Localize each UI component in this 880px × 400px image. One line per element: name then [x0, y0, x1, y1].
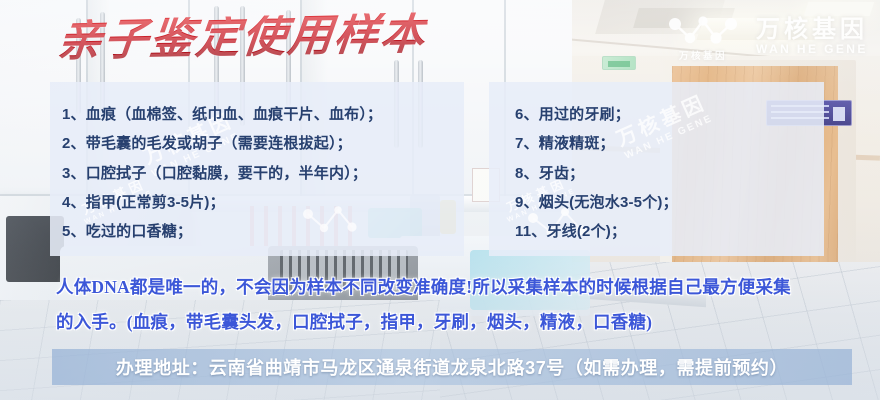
list-item: 6、用过的牙刷； — [515, 100, 824, 129]
sample-list-panel-right: 万核基因 WAN HE GENE 万核基因 WAN HE GENE 6、用过的牙… — [489, 82, 824, 256]
logo-mark-label: 万核基因 — [679, 48, 727, 62]
logo-name-en: WAN HE GENE — [756, 42, 868, 56]
list-item: 11、牙线(2个)； — [515, 217, 824, 246]
sample-list-left: 1、血痕（血棉签、纸巾血、血痕干片、血布）； 2、带毛囊的毛发或胡子（需要连根拔… — [50, 82, 464, 246]
list-item: 4、指甲(正常剪3-5片)； — [62, 188, 464, 217]
list-item: 7、精液精斑； — [515, 129, 824, 158]
address-text: 办理地址：云南省曲靖市马龙区通泉街道龙泉北路37号（如需办理，需提前预约） — [116, 354, 788, 380]
list-item: 5、吃过的口香糖； — [62, 217, 464, 246]
description-paragraph: 人体DNA都是唯一的，不会因为样本不同改变准确度!所以采集样本的时候根据自己最方… — [56, 270, 836, 340]
logo-wordmark: 万核基因 WAN HE GENE — [756, 17, 868, 57]
page-title: 亲子鉴定使用样本 — [55, 12, 428, 64]
logo-mark: 万核基因 — [666, 12, 740, 62]
logo-name-cn: 万核基因 — [756, 17, 868, 42]
address-banner: 办理地址：云南省曲靖市马龙区通泉街道龙泉北路37号（如需办理，需提前预约） — [52, 349, 852, 385]
paragraph-line: 的入手。(血痕，带毛囊头发，口腔拭子，指甲，牙刷，烟头，精液，口香糖) — [56, 305, 836, 340]
list-item: 9、烟头(无泡水3-5个)； — [515, 188, 824, 217]
paragraph-line: 人体DNA都是唯一的，不会因为样本不同改变准确度!所以采集样本的时候根据自己最方… — [56, 270, 836, 305]
list-item: 2、带毛囊的毛发或胡子（需要连根拔起）； — [62, 129, 464, 158]
list-item: 8、牙齿； — [515, 159, 824, 188]
list-item: 1、血痕（血棉签、纸巾血、血痕干片、血布）； — [62, 100, 464, 129]
molecule-nodes-icon — [666, 12, 740, 46]
list-item: 3、口腔拭子（口腔黏膜，要干的，半年内）； — [62, 159, 464, 188]
poster-canvas: 万核基因 万核基因 WAN HE GENE 亲子鉴定使用样本 万核基因 WAN … — [0, 0, 880, 400]
sample-list-right: 6、用过的牙刷； 7、精液精斑； 8、牙齿； 9、烟头(无泡水3-5个)； 11… — [489, 82, 824, 246]
sample-list-panel-left: 万核基因 WAN HE GENE 万核基因 WAN HE GENE 1、血痕（血… — [50, 82, 464, 256]
brand-logo: 万核基因 万核基因 WAN HE GENE — [666, 12, 868, 62]
